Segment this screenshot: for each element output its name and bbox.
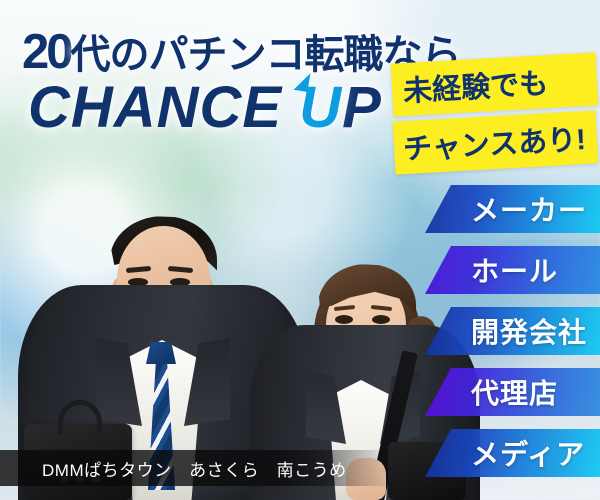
category-button-agency[interactable]: 代理店 xyxy=(425,368,600,416)
credit-band: DMMぱちタウン あさくら 南こうめ xyxy=(0,450,392,486)
category-list: メーカー ホール 開発会社 代理店 メディア xyxy=(0,0,600,500)
recruitment-banner[interactable]: 20代のパチンコ転職なら CHANCE UP 未経験でも チャンスあり! メーカ… xyxy=(0,0,600,500)
credit-text: DMMぱちタウン あさくら 南こうめ xyxy=(42,456,347,481)
category-button-media[interactable]: メディア xyxy=(425,429,600,477)
category-button-hall[interactable]: ホール xyxy=(425,246,600,294)
category-button-maker[interactable]: メーカー xyxy=(425,185,600,233)
category-button-developer[interactable]: 開発会社 xyxy=(425,307,600,355)
